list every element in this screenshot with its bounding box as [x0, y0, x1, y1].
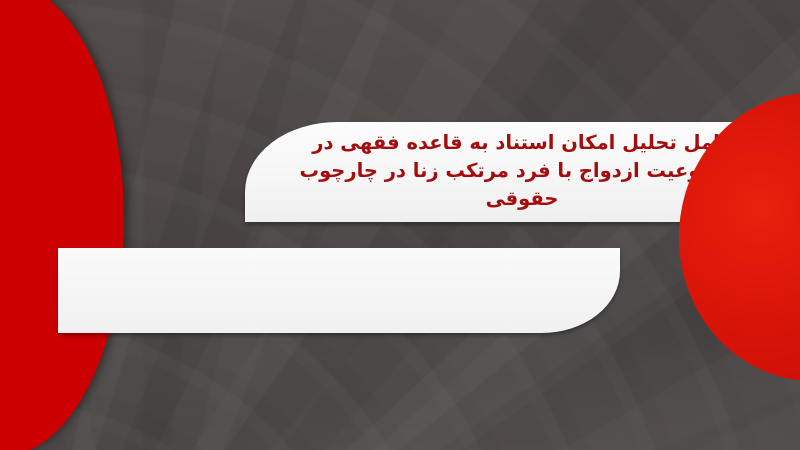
content-panel[interactable] [58, 248, 620, 333]
presentation-slide: کامل تحلیل امکان استناد به قاعده فقهی در… [0, 0, 800, 450]
content-panel-text[interactable] [58, 248, 620, 333]
